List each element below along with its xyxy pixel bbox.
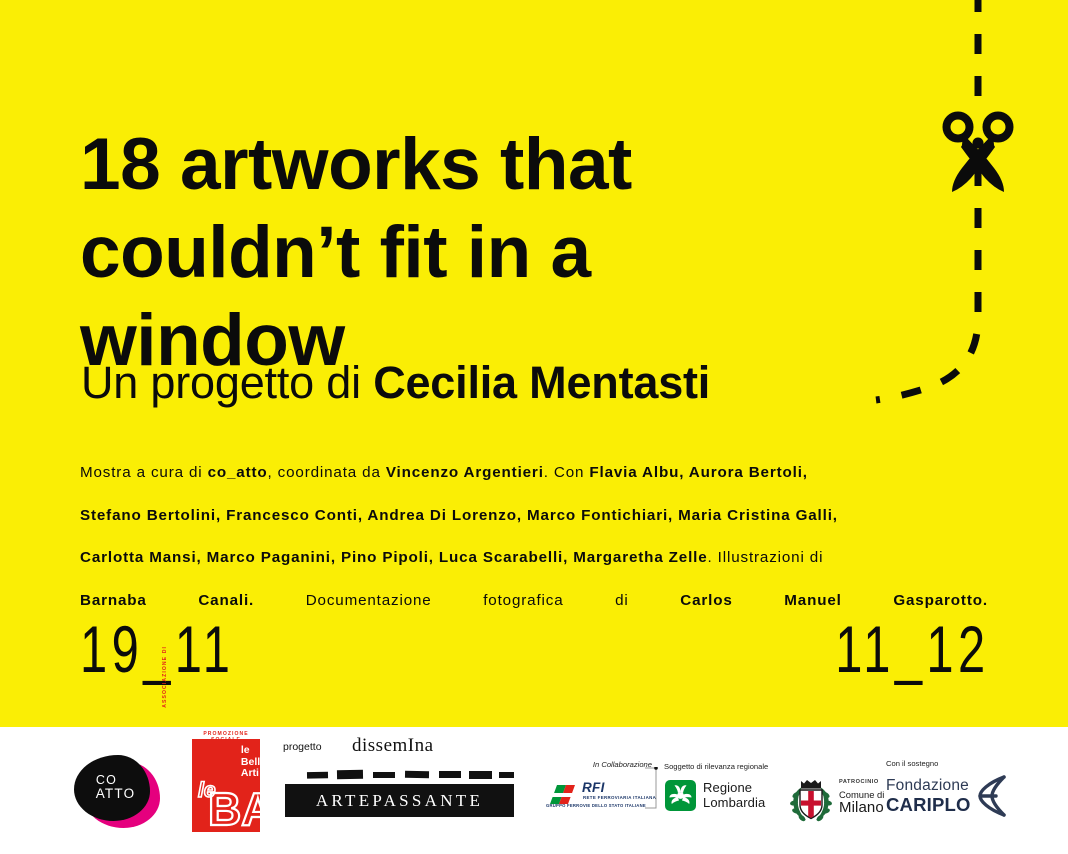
coatto-text-top: CO [96, 774, 117, 788]
leba-ba-glyph: BA [208, 783, 260, 832]
logo-artepassante: progetto dissemIna ARTEPASSANTE [276, 727, 524, 854]
regione-wordmark: Regione Lombardia [703, 780, 765, 810]
leba-side-arti: Arti [241, 768, 266, 780]
credits-artists-3: Carlotta Mansi, Marco Paganini, Pino Pip… [80, 549, 708, 566]
coatto-wordmark: CO ATTO [74, 755, 150, 821]
date-end: 11_12 [836, 614, 990, 684]
artepassante-dissemina: dissemIna [352, 735, 434, 757]
credits-word: di [615, 580, 629, 623]
artepassante-wordmark: ARTEPASSANTE [285, 784, 514, 817]
credits-coord-prefix: , coordinata da [268, 464, 386, 481]
coatto-text-bottom: ATTO [96, 787, 136, 802]
artepassante-dashes [285, 767, 514, 783]
date-start: 19_11 [80, 614, 234, 684]
regione-word-line-2: Lombardia [703, 795, 765, 810]
page-title: 18 artworks that couldn’t fit in a windo… [80, 121, 780, 385]
subtitle-prefix: Un progetto di [81, 357, 373, 408]
credits-illustrations-label: . Illustrazioni di [708, 549, 824, 566]
logo-rfi: In Collaborazione RFI RETE FERROVIARIA I… [540, 727, 658, 854]
regione-label: Soggetto di rilevanza regionale [664, 762, 768, 771]
credits-word: Manuel [784, 580, 841, 623]
logo-fondazione-cariplo: Con il sostegno Fondazione CARIPLO [878, 727, 1008, 854]
logo-coatto: CO ATTO [62, 727, 167, 854]
credits-word: Carlos [680, 580, 732, 623]
logo-le-belle-arti: PROMOZIONE SOCIALE ASSOCIAZIONE DI le BA… [168, 727, 270, 854]
rfi-subtitle-1: RETE FERROVIARIA ITALIANA [583, 795, 656, 800]
leba-side-text: le Belle Arti [241, 745, 266, 780]
coatto-mark: CO ATTO [70, 755, 160, 830]
cariplo-word-cariplo: CARIPLO [886, 794, 971, 816]
cariplo-word-fondazione: Fondazione [886, 777, 969, 795]
credits-curator: co_atto [208, 464, 268, 481]
credits-artists-2: Stefano Bertolini, Francesco Conti, Andr… [80, 507, 838, 524]
cariplo-support-label: Con il sostegno [886, 759, 938, 768]
rfi-wordmark: RFI [582, 780, 605, 795]
credits-line-2: Stefano Bertolini, Francesco Conti, Andr… [80, 495, 988, 538]
credits-word: Documentazione [306, 580, 432, 623]
subtitle: Un progetto di Cecilia Mentasti [81, 357, 710, 409]
cariplo-mark-icon [974, 773, 1010, 817]
regione-word-line-1: Regione [703, 780, 765, 795]
credits-paragraph: Mostra a cura di co_atto, coordinata da … [80, 452, 988, 622]
logo-comune-milano: PATROCINIO Comune di Milano [782, 727, 892, 854]
rfi-subtitle-2: GRUPPO FERROVIE DELLO STATO ITALIANE [546, 803, 646, 808]
headline-line-2: couldn’t fit in a [80, 209, 780, 297]
leba-vertical-label: ASSOCIAZIONE DI [162, 646, 168, 739]
credits-word: fotografica [483, 580, 563, 623]
artepassante-progetto-label: progetto [283, 741, 322, 753]
headline-line-1: 18 artworks that [80, 121, 780, 209]
credits-coordinator: Vincenzo Argentieri [386, 464, 544, 481]
leba-side-le: le [241, 745, 266, 757]
credits-line-1: Mostra a cura di co_atto, coordinata da … [80, 452, 988, 495]
rfi-bracket [644, 767, 658, 809]
subtitle-artist-name: Cecilia Mentasti [373, 357, 710, 408]
credits-artists-1: Flavia Albu, Aurora Bertoli, [589, 464, 807, 481]
milano-patrocinio-label: PATROCINIO [839, 779, 879, 785]
logo-regione-lombardia: Soggetto di rilevanza regionale Regione … [658, 727, 780, 854]
sponsor-logo-strip: CO ATTO PROMOZIONE SOCIALE ASSOCIAZIONE … [0, 727, 1068, 854]
milano-crest-icon [786, 775, 836, 823]
credits-con-prefix: . Con [544, 464, 590, 481]
poster: 18 artworks that couldn’t fit in a windo… [0, 0, 1068, 854]
lombardy-rose-icon [665, 780, 696, 811]
credits-line-3: Carlotta Mansi, Marco Paganini, Pino Pip… [80, 537, 988, 580]
credits-curator-prefix: Mostra a cura di [80, 464, 208, 481]
